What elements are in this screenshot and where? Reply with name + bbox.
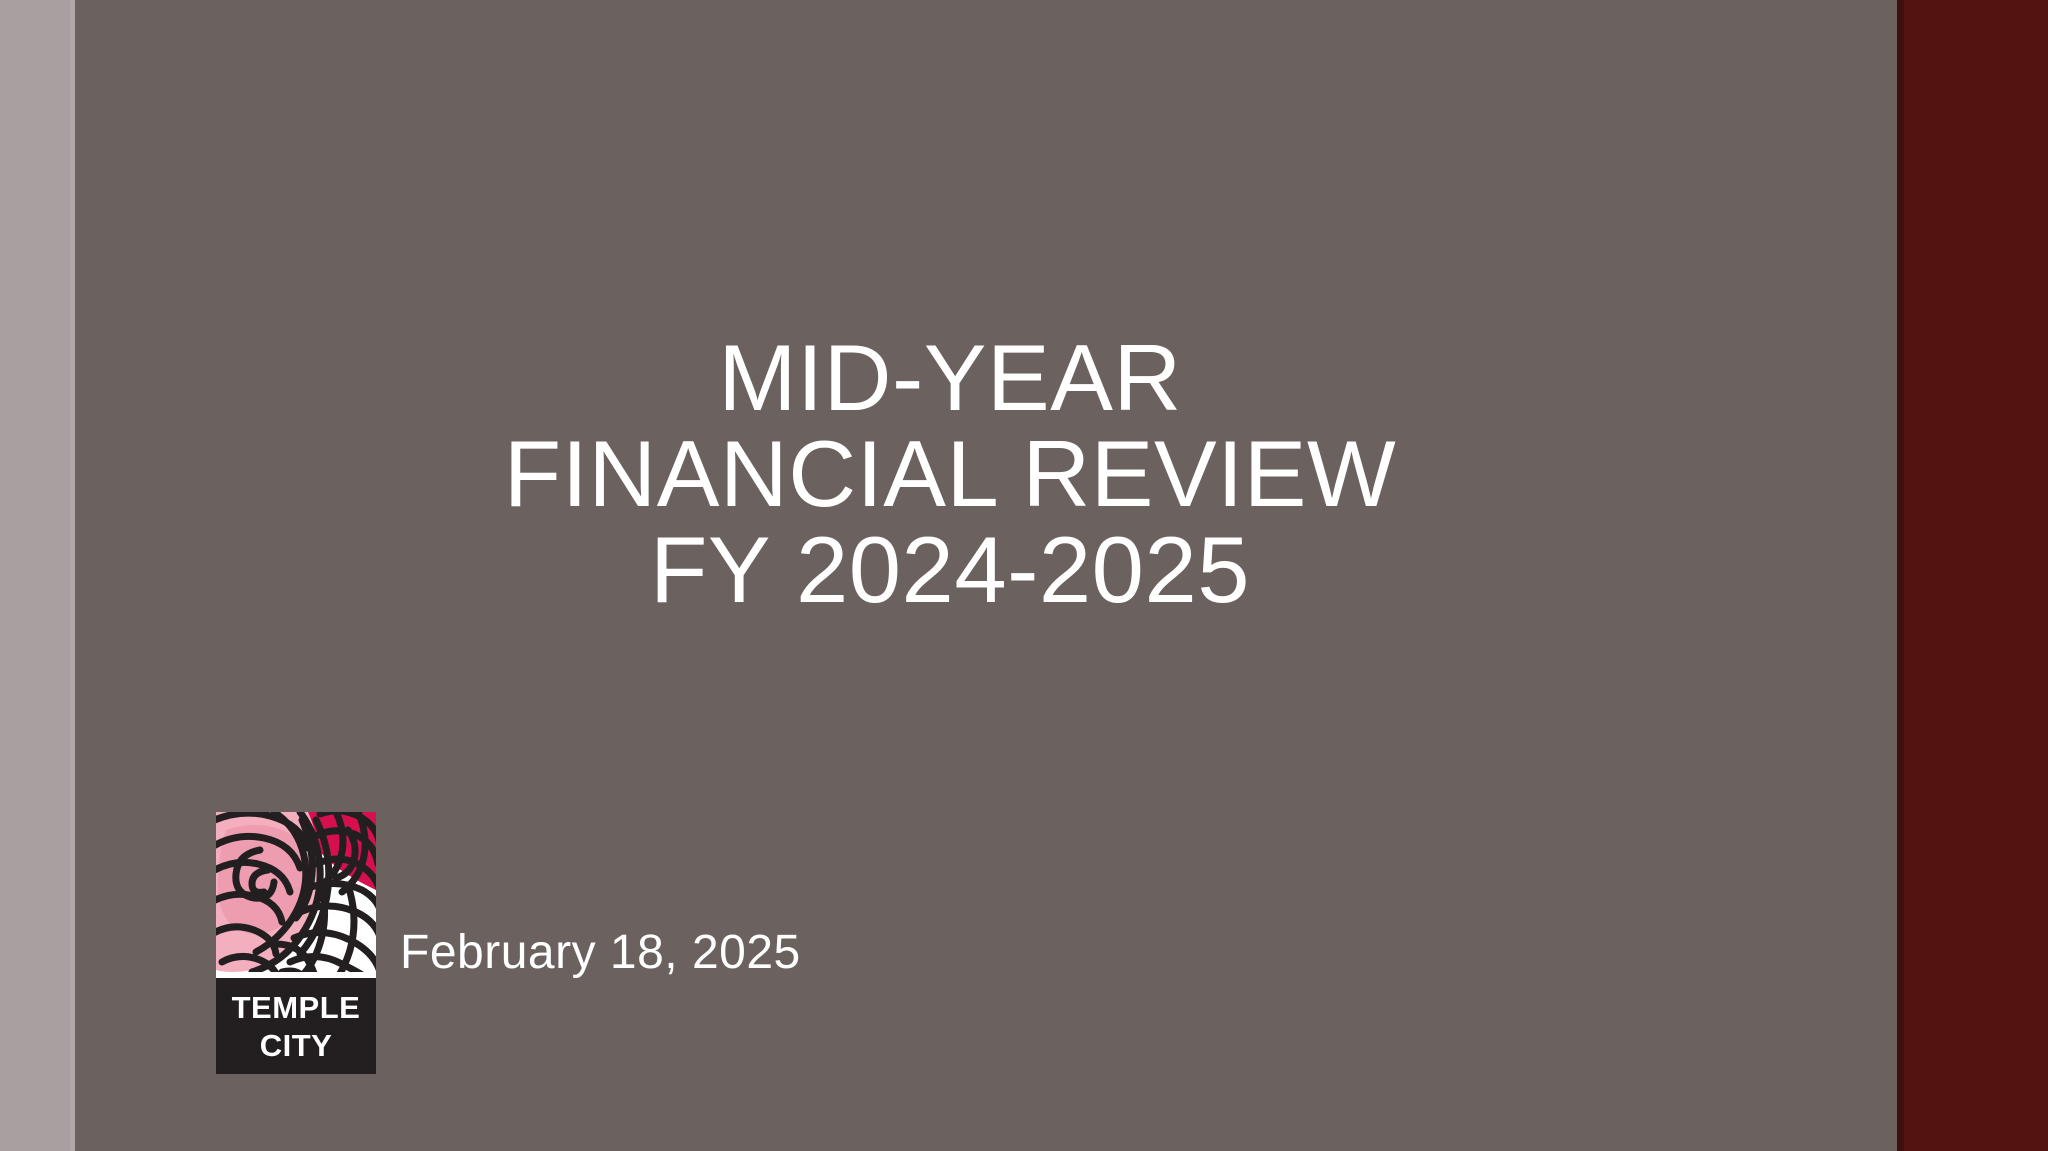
temple-city-logo: TEMPLE CITY [216, 812, 376, 1074]
logo-text-city: CITY [260, 1028, 333, 1063]
presentation-date: February 18, 2025 [400, 925, 801, 980]
left-accent-band [0, 0, 70, 1151]
rose-illustration [216, 812, 376, 984]
logo-text-temple: TEMPLE [232, 990, 361, 1025]
left-accent-band-edge [70, 0, 75, 1151]
right-accent-band-edge [1897, 0, 1904, 1151]
presentation-slide: MID-YEAR FINANCIAL REVIEW FY 2024-2025 [0, 0, 2048, 1151]
page-title: MID-YEAR FINANCIAL REVIEW FY 2024-2025 [280, 330, 1620, 618]
right-accent-band [1904, 0, 2048, 1151]
